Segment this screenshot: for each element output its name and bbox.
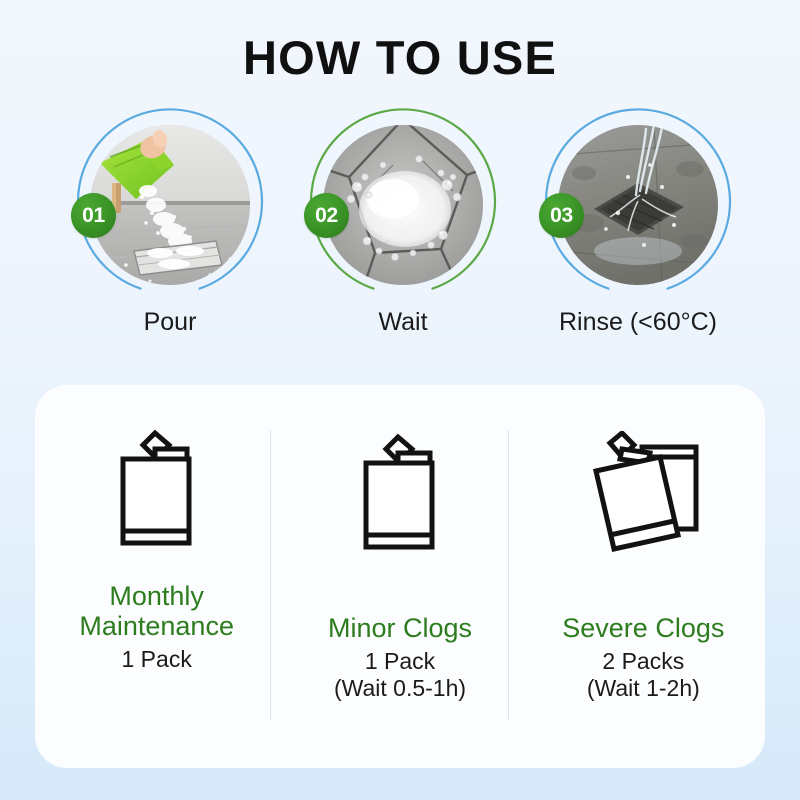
rinse-floor-drain-illustration-icon [558,125,718,285]
step-3-label: Rinse (<60°C) [518,308,758,337]
step-3-ring-wrap: 03 [545,112,731,298]
dosage-title-2: Minor Clogs [328,613,472,643]
step-2-badge: 02 [304,193,349,238]
dosage-column-severe-clogs: Severe Clogs 2 Packs (Wait 1-2h) [522,385,765,768]
step-3-photo [558,125,718,285]
foaming-tile-illustration-icon [323,125,483,285]
dosage-icon-2 [348,415,452,575]
step-2-photo [323,125,483,285]
dosage-column-monthly-maintenance: Monthly Maintenance 1 Pack [35,385,278,768]
dosage-icon-3 [580,415,706,575]
dosage-detail-3: 2 Packs (Wait 1-2h) [587,648,700,702]
step-3: 03 Rinse (<60°C) [518,112,758,357]
step-1: 01 Pour [50,112,290,357]
step-1-photo [90,125,250,285]
pour-granules-illustration-icon [90,125,250,285]
page-title: HOW TO USE [0,33,800,82]
dosage-detail-2: 1 Pack (Wait 0.5-1h) [334,648,466,702]
step-1-label: Pour [50,308,290,337]
step-3-badge: 03 [539,193,584,238]
step-2: 02 Wait [283,112,523,357]
step-1-badge: 01 [71,193,116,238]
step-2-label: Wait [283,308,523,337]
single-pouch-icon [105,427,209,555]
steps-section: 01 Pour [0,112,800,357]
dosage-icon-1 [105,411,209,571]
dosage-title-1: Monthly Maintenance [35,581,278,641]
dosage-column-minor-clogs: Minor Clogs 1 Pack (Wait 0.5-1h) [278,385,521,768]
double-pouch-icon [580,431,706,559]
dosage-card: Monthly Maintenance 1 Pack Minor Clogs 1… [35,385,765,768]
dosage-detail-1: 1 Pack [122,646,192,673]
single-pouch-icon [348,431,452,559]
dosage-title-3: Severe Clogs [562,613,724,643]
step-1-ring-wrap: 01 [77,112,263,298]
step-2-ring-wrap: 02 [310,112,496,298]
